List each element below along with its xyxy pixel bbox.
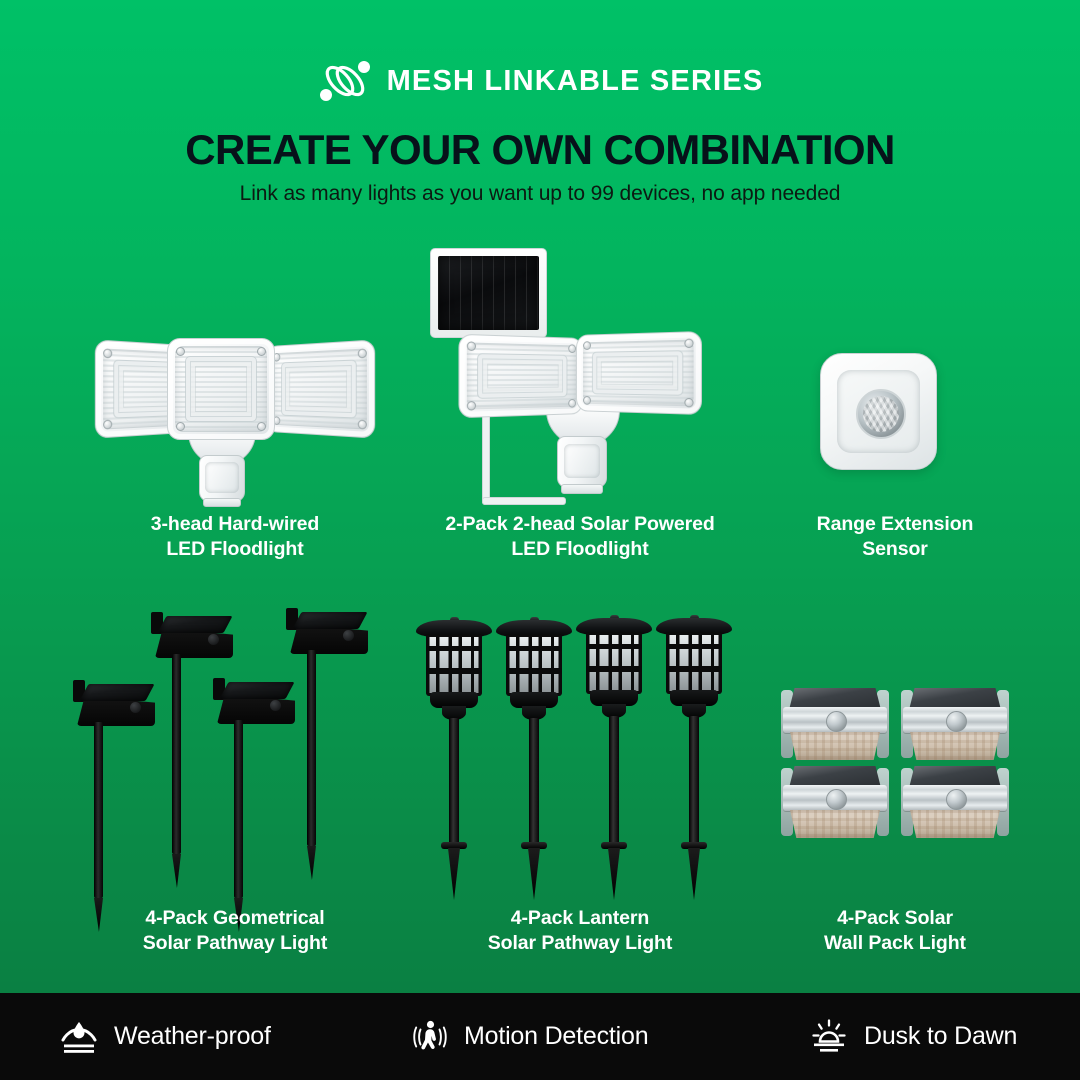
caption-line-2: Solar Pathway Light — [400, 931, 760, 956]
page-subtitle: Link as many lights as you want up to 99… — [0, 180, 1080, 207]
product-row-1: 3-head Hard-wired LED Floodlight — [0, 240, 1080, 580]
caption-line-1: 2-Pack 2-head Solar Powered — [400, 512, 760, 537]
caption-line-2: LED Floodlight — [400, 537, 760, 562]
pir-sensor-icon — [826, 789, 847, 810]
product-caption: 3-head Hard-wired LED Floodlight — [55, 512, 415, 562]
product-card-2-head-solar-floodlight[interactable]: 2-Pack 2-head Solar Powered LED Floodlig… — [400, 240, 760, 505]
lantern-light-unit — [414, 620, 494, 892]
series-label: MESH LINKABLE SERIES — [387, 67, 764, 96]
pir-lens-icon — [856, 389, 906, 439]
solar-panel — [430, 248, 547, 338]
product-card-range-extension-sensor[interactable]: Range Extension Sensor — [745, 240, 1045, 505]
feature-motion-detection: Motion Detection — [408, 993, 648, 1080]
lantern-light-unit — [574, 618, 654, 890]
caption-line-2: Wall Pack Light — [745, 931, 1045, 956]
caption-line-1: 4-Pack Solar — [745, 906, 1045, 931]
product-image-lantern-pathway-lights — [400, 608, 760, 898]
pir-sensor-icon — [826, 711, 847, 732]
wall-pack-unit — [903, 766, 1007, 840]
caption-line-2: Solar Pathway Light — [55, 931, 415, 956]
wall-pack-unit — [903, 688, 1007, 762]
pathway-light-unit — [77, 680, 155, 920]
lantern-light-unit — [494, 620, 574, 892]
pir-sensor-icon — [946, 711, 967, 732]
product-card-solar-wall-pack-light[interactable]: 4-Pack Solar Wall Pack Light — [745, 608, 1045, 898]
product-image-range-extension-sensor — [745, 240, 1045, 505]
lantern-light-unit — [654, 618, 734, 890]
feature-label: Motion Detection — [464, 1022, 648, 1051]
caption-line-1: 4-Pack Lantern — [400, 906, 760, 931]
poster-canvas: MESH LINKABLE SERIES CREATE YOUR OWN COM… — [0, 0, 1080, 1080]
caption-line-2: LED Floodlight — [55, 537, 415, 562]
product-caption: 4-Pack Geometrical Solar Pathway Light — [55, 906, 415, 956]
product-caption: 2-Pack 2-head Solar Powered LED Floodlig… — [400, 512, 760, 562]
caption-line-1: Range Extension — [745, 512, 1045, 537]
feature-bar: Weather-proof Motion Detection — [0, 993, 1080, 1080]
pir-sensor-icon — [946, 789, 967, 810]
product-row-2: 4-Pack Geometrical Solar Pathway Light — [0, 608, 1080, 958]
caption-line-1: 4-Pack Geometrical — [55, 906, 415, 931]
page-title: CREATE YOUR OWN COMBINATION — [0, 128, 1080, 173]
wall-pack-unit — [783, 688, 887, 762]
product-caption: 4-Pack Solar Wall Pack Light — [745, 906, 1045, 956]
pathway-light-unit — [290, 608, 368, 878]
feature-weather-proof: Weather-proof — [58, 993, 271, 1080]
wall-pack-unit — [783, 766, 887, 840]
feature-dusk-to-dawn: Dusk to Dawn — [808, 993, 1017, 1080]
product-caption: 4-Pack Lantern Solar Pathway Light — [400, 906, 760, 956]
walking-person-motion-icon — [408, 1016, 450, 1058]
product-caption: Range Extension Sensor — [745, 512, 1045, 562]
product-image-solar-floodlight — [400, 240, 760, 505]
product-image-geometrical-pathway-lights — [55, 608, 415, 898]
sensor-body — [820, 353, 937, 470]
product-card-lantern-pathway-light[interactable]: 4-Pack Lantern Solar Pathway Light — [400, 608, 760, 898]
feature-label: Weather-proof — [114, 1022, 271, 1051]
pathway-light-unit — [217, 678, 295, 918]
product-card-geometrical-pathway-light[interactable]: 4-Pack Geometrical Solar Pathway Light — [55, 608, 415, 898]
caption-line-2: Sensor — [745, 537, 1045, 562]
sunset-dusk-dawn-icon — [808, 1016, 850, 1058]
feature-label: Dusk to Dawn — [864, 1022, 1017, 1051]
series-brand-line: MESH LINKABLE SERIES — [0, 58, 1080, 104]
water-drop-shield-icon — [58, 1016, 100, 1058]
mesh-link-icon — [317, 58, 373, 104]
product-card-3-head-hardwired-floodlight[interactable]: 3-head Hard-wired LED Floodlight — [55, 240, 415, 505]
caption-line-1: 3-head Hard-wired — [55, 512, 415, 537]
product-image-wall-pack-lights — [745, 608, 1045, 898]
product-image-3-head-floodlight — [55, 240, 415, 505]
